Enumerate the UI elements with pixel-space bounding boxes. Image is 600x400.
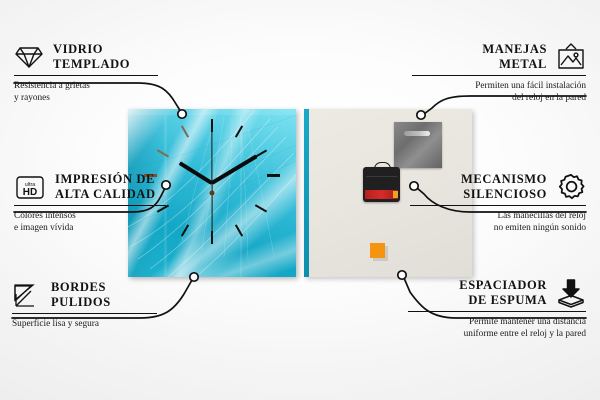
feature-desc-line2: del reloj en la pared <box>386 92 586 104</box>
feature-header: VIDRIO TEMPLADO <box>14 42 214 72</box>
foam-spacer-pad <box>370 243 385 258</box>
feature-desc-line2: no emiten ningún sonido <box>386 222 586 234</box>
polished-edges-icon <box>12 282 42 308</box>
hanger-slot <box>404 131 430 136</box>
metal-hanger-plate <box>394 122 442 168</box>
glass-edge-strip <box>304 109 309 277</box>
feature-title-line2: SILENCIOSO <box>461 187 547 202</box>
feature-impresion-alta-calidad: ultra HD IMPRESIÓN DE ALTA CALIDAD Color… <box>14 172 214 234</box>
feature-title: IMPRESIÓN DE ALTA CALIDAD <box>55 172 156 202</box>
feature-header: ESPACIADOR DE ESPUMA <box>386 278 586 308</box>
feature-desc-line1: Resistencia a grietas <box>14 80 214 92</box>
feature-description: Permiten una fácil instalación del reloj… <box>386 80 586 104</box>
feature-title-line1: ESPACIADOR <box>459 278 547 293</box>
feature-title-line2: PULIDOS <box>51 295 111 310</box>
feature-desc-line1: Superficie lisa y segura <box>12 318 212 330</box>
feature-manejas-metal: MANEJAS METAL Permiten una fácil instala… <box>386 42 586 104</box>
infographic-canvas: VIDRIO TEMPLADO Resistencia a grietas y … <box>0 0 600 400</box>
feature-header: ultra HD IMPRESIÓN DE ALTA CALIDAD <box>14 172 214 202</box>
feature-title: MECANISMO SILENCIOSO <box>461 172 547 202</box>
feature-title: VIDRIO TEMPLADO <box>53 42 130 72</box>
feature-title-line2: METAL <box>482 57 547 72</box>
ultra-hd-main-text: HD <box>23 187 37 198</box>
feature-divider <box>412 75 586 76</box>
feature-desc-line1: Permite mantener una distancia <box>386 316 586 328</box>
feature-desc-line1: Las manecillas del reloj <box>386 210 586 222</box>
feature-title-line1: IMPRESIÓN DE <box>55 172 156 187</box>
feature-divider <box>408 311 586 312</box>
feature-mecanismo-silencioso: MECANISMO SILENCIOSO Las manecillas del … <box>386 172 586 234</box>
feature-title-line2: ALTA CALIDAD <box>55 187 156 202</box>
feature-desc-line1: Permiten una fácil instalación <box>386 80 586 92</box>
foam-spacer-icon <box>556 278 586 308</box>
feature-title-line2: DE ESPUMA <box>459 293 547 308</box>
feature-espaciador-espuma: ESPACIADOR DE ESPUMA Permite mantener un… <box>386 278 586 341</box>
hands-center-cap <box>210 191 215 196</box>
mechanism-hook <box>374 162 391 171</box>
feature-title: BORDES PULIDOS <box>51 280 111 310</box>
picture-hanger-icon <box>556 43 586 71</box>
feature-title: MANEJAS METAL <box>482 42 547 72</box>
feature-title-line1: MECANISMO <box>461 172 547 187</box>
diamond-icon <box>14 44 44 70</box>
feature-description: Superficie lisa y segura <box>12 318 212 330</box>
feature-desc-line2: uniforme entre el reloj y la pared <box>386 328 586 340</box>
feature-title-line1: VIDRIO <box>53 42 130 57</box>
feature-desc-line2: e imagen vívida <box>14 222 214 234</box>
feature-description: Resistencia a grietas y rayones <box>14 80 214 104</box>
feature-bordes-pulidos: BORDES PULIDOS Superficie lisa y segura <box>12 280 212 330</box>
feature-description: Permite mantener una distancia uniforme … <box>386 316 586 340</box>
feature-header: BORDES PULIDOS <box>12 280 212 310</box>
feature-desc-line2: y rayones <box>14 92 214 104</box>
feature-header: MANEJAS METAL <box>386 42 586 72</box>
feature-header: MECANISMO SILENCIOSO <box>386 172 586 202</box>
feature-vidrio-templado: VIDRIO TEMPLADO Resistencia a grietas y … <box>14 42 214 104</box>
feature-divider <box>12 313 157 314</box>
feature-title-line1: BORDES <box>51 280 111 295</box>
feature-desc-line1: Colores intensos <box>14 210 214 222</box>
gear-icon <box>556 173 586 201</box>
feature-description: Las manecillas del reloj no emiten ningú… <box>386 210 586 234</box>
feature-description: Colores intensos e imagen vívida <box>14 210 214 234</box>
feature-divider <box>14 75 158 76</box>
feature-title-line2: TEMPLADO <box>53 57 130 72</box>
feature-divider <box>410 205 586 206</box>
feature-divider <box>14 205 166 206</box>
feature-title-line1: MANEJAS <box>482 42 547 57</box>
feature-title: ESPACIADOR DE ESPUMA <box>459 278 547 308</box>
ultra-hd-badge-icon: ultra HD <box>14 174 46 200</box>
